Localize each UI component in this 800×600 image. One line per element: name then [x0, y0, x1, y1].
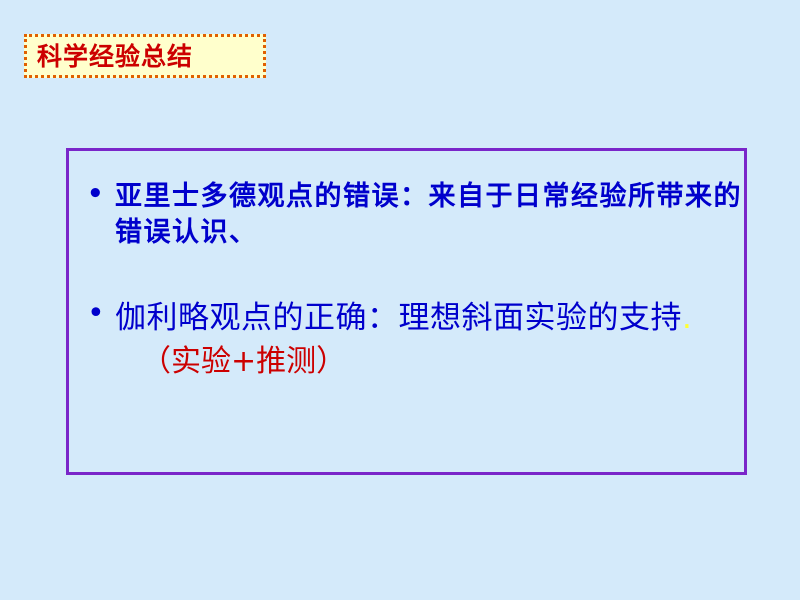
page-title: 科学经验总结 [37, 44, 193, 69]
bullet-dot-icon: • [87, 299, 105, 329]
bullet-trailing-period: . [682, 300, 692, 336]
bullet-list: • 亚里士多德观点的错误：来自于日常经验所带来的错误认识、 • 伽利略观点的正确… [69, 179, 744, 338]
content-box: • 亚里士多德观点的错误：来自于日常经验所带来的错误认识、 • 伽利略观点的正确… [66, 148, 747, 475]
bullet-text-1: 亚里士多德观点的错误：来自于日常经验所带来的错误认识、 [115, 181, 742, 248]
bullet-dot-icon: • [87, 181, 105, 207]
list-item: • 亚里士多德观点的错误：来自于日常经验所带来的错误认识、 [69, 179, 744, 252]
slide-canvas: 科学经验总结 • 亚里士多德观点的错误：来自于日常经验所带来的错误认识、 • 伽… [0, 0, 800, 600]
bullet-text-2: 伽利略观点的正确：理想斜面实验的支持 [115, 300, 682, 336]
title-badge: 科学经验总结 [24, 34, 266, 78]
list-item: • 伽利略观点的正确：理想斜面实验的支持. [69, 298, 744, 338]
sub-line-text: （实验+推测） [69, 344, 744, 380]
